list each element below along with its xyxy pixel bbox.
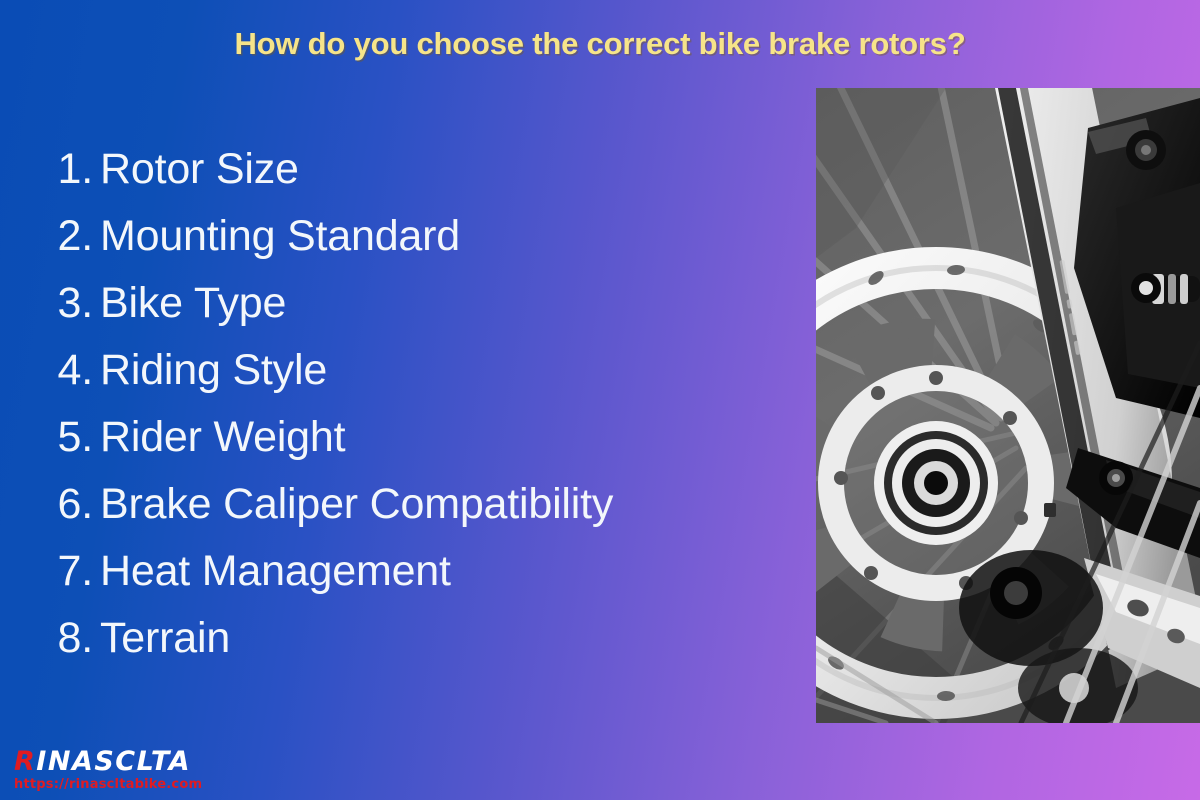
list-item-label: Riding Style: [100, 337, 327, 404]
list-item: 6. Brake Caliper Compatibility: [46, 471, 786, 538]
list-item-label: Brake Caliper Compatibility: [100, 471, 613, 538]
list-item: 2. Mounting Standard: [46, 203, 786, 270]
list-item: 4. Riding Style: [46, 337, 786, 404]
list-item: 1. Rotor Size: [46, 136, 786, 203]
list-item-number: 5.: [46, 404, 100, 471]
brand-initial: R: [14, 746, 36, 777]
list-item-number: 3.: [46, 270, 100, 337]
bike-disc-brake-rotor-photo: [816, 88, 1200, 723]
list-item: 3. Bike Type: [46, 270, 786, 337]
brand-url[interactable]: https://rinascltabike.com: [14, 777, 244, 792]
infographic-poster: How do you choose the correct bike brake…: [0, 0, 1200, 800]
list-item: 7. Heat Management: [46, 538, 786, 605]
brand-rest: INASCLTA: [36, 746, 191, 777]
list-item-label: Heat Management: [100, 538, 451, 605]
list-item-label: Rider Weight: [100, 404, 345, 471]
brand-wordmark: RINASCLTA: [14, 748, 244, 775]
numbered-list: 1. Rotor Size 2. Mounting Standard 3. Bi…: [46, 136, 786, 672]
list-item-number: 8.: [46, 605, 100, 672]
list-item-label: Rotor Size: [100, 136, 299, 203]
list-item-number: 4.: [46, 337, 100, 404]
list-item: 8. Terrain: [46, 605, 786, 672]
list-item-label: Terrain: [100, 605, 230, 672]
list-item-label: Bike Type: [100, 270, 286, 337]
page-title: How do you choose the correct bike brake…: [0, 26, 1200, 62]
list-item-number: 1.: [46, 136, 100, 203]
list-item-label: Mounting Standard: [100, 203, 460, 270]
list-item-number: 7.: [46, 538, 100, 605]
list-item: 5. Rider Weight: [46, 404, 786, 471]
list-item-number: 2.: [46, 203, 100, 270]
list-item-number: 6.: [46, 471, 100, 538]
brand-logo[interactable]: RINASCLTA https://rinascltabike.com: [14, 748, 244, 792]
